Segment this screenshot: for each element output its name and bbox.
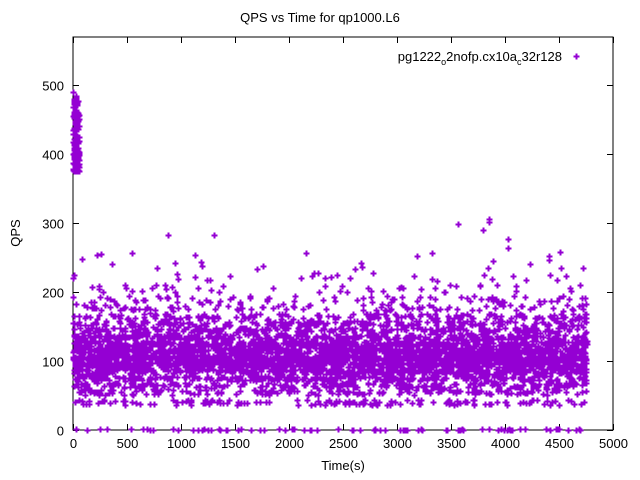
x-tick-label: 4000	[491, 436, 520, 451]
canvas-background	[0, 0, 640, 480]
chart-title: QPS vs Time for qp1000.L6	[240, 10, 400, 25]
y-tick-label: 400	[42, 148, 64, 163]
x-axis-label: Time(s)	[321, 458, 365, 473]
x-tick-label: 1000	[167, 436, 196, 451]
chart-container: QPS vs Time for qp1000.L6 05001000150020…	[0, 0, 640, 480]
x-tick-label: 4500	[545, 436, 574, 451]
x-tick-label: 500	[117, 436, 139, 451]
x-tick-label: 3000	[383, 436, 412, 451]
x-tick-label: 1500	[221, 436, 250, 451]
y-tick-label: 200	[42, 286, 64, 301]
qps-vs-time-scatter-plot: QPS vs Time for qp1000.L6 05001000150020…	[0, 0, 640, 480]
y-tick-label: 500	[42, 79, 64, 94]
x-tick-label: 5000	[599, 436, 628, 451]
x-tick-label: 2000	[275, 436, 304, 451]
x-tick-label: 0	[70, 436, 77, 451]
y-axis-label: QPS	[8, 219, 23, 247]
y-tick-label: 0	[57, 424, 64, 439]
x-tick-label: 3500	[437, 436, 466, 451]
x-tick-label: 2500	[329, 436, 358, 451]
y-tick-label: 100	[42, 355, 64, 370]
y-tick-label: 300	[42, 217, 64, 232]
